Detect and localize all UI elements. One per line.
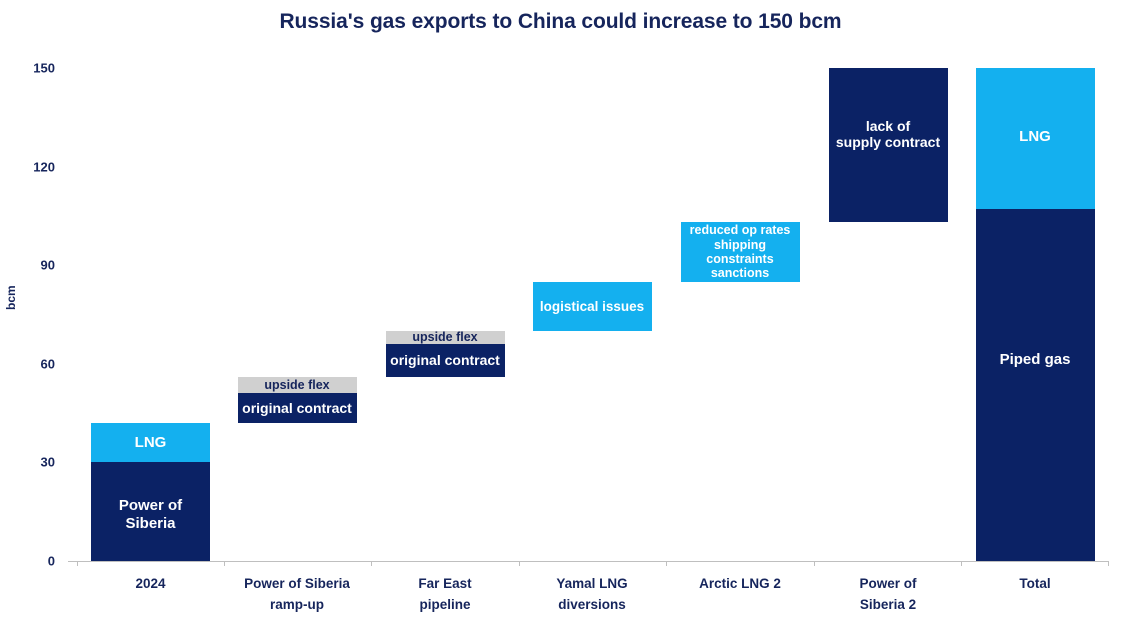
bar-segment-label: LNG [91, 434, 210, 451]
bar-segment[interactable]: Power of Siberia [91, 462, 210, 561]
bar-segment-label: Piped gas [976, 351, 1095, 368]
bar-group[interactable]: Power of SiberiaLNG [91, 423, 210, 561]
y-axis-title: bcm [4, 285, 18, 310]
bar-segment-label: reduced op ratesshipping constraintssanc… [681, 223, 800, 281]
bar-segment[interactable]: original contract [386, 344, 505, 377]
x-axis-label: Total [945, 574, 1121, 595]
y-tick-label: 60 [0, 356, 55, 371]
axis-tick-mark [814, 561, 815, 566]
axis-tick-mark [519, 561, 520, 566]
bar-segment-label: original contract [386, 352, 505, 368]
bar-group[interactable]: reduced op ratesshipping constraintssanc… [681, 222, 800, 281]
bar-group[interactable]: lack ofsupply contract [829, 68, 948, 222]
bar-segment-label: lack ofsupply contract [829, 118, 948, 150]
bar-segment[interactable]: original contract [238, 393, 357, 423]
bar-group[interactable]: original contractupside flex [238, 377, 357, 423]
bar-segment-label: logistical issues [533, 299, 652, 315]
bar-segment-label: upside flex [386, 331, 505, 344]
bar-group[interactable]: Piped gasLNG [976, 68, 1095, 561]
bar-segment-label: upside flex [238, 378, 357, 392]
bar-segment-label: original contract [238, 400, 357, 416]
bar-segment-label: LNG [976, 128, 1095, 145]
bar-segment[interactable]: LNG [976, 68, 1095, 209]
x-axis-label-line1: Total [945, 574, 1121, 595]
bar-segment[interactable]: upside flex [238, 377, 357, 393]
bar-segment[interactable]: Piped gas [976, 209, 1095, 561]
x-axis-label-line2: Siberia 2 [798, 595, 978, 616]
y-tick-label: 0 [0, 554, 55, 569]
axis-tick-mark [666, 561, 667, 566]
axis-tick-mark [77, 561, 78, 566]
axis-tick-mark [961, 561, 962, 566]
y-tick-label: 30 [0, 455, 55, 470]
plot-area: bcm 0306090120150 Power of SiberiaLNGori… [0, 0, 1121, 626]
bar-segment[interactable]: lack ofsupply contract [829, 68, 948, 222]
x-axis-label-line2: diversions [502, 595, 682, 616]
waterfall-chart: Russia's gas exports to China could incr… [0, 0, 1121, 626]
y-tick-label: 150 [0, 61, 55, 76]
bar-segment[interactable]: LNG [91, 423, 210, 462]
bar-segment[interactable]: reduced op ratesshipping constraintssanc… [681, 222, 800, 281]
bar-group[interactable]: original contractupside flex [386, 331, 505, 377]
axis-tick-mark [224, 561, 225, 566]
axis-tick-mark [1108, 561, 1109, 566]
bar-segment[interactable]: upside flex [386, 331, 505, 344]
y-tick-label: 120 [0, 159, 55, 174]
y-tick-label: 90 [0, 258, 55, 273]
bar-group[interactable]: logistical issues [533, 282, 652, 331]
bar-segment[interactable]: logistical issues [533, 282, 652, 331]
bar-segment-label: Power of Siberia [91, 497, 210, 532]
axis-tick-mark [371, 561, 372, 566]
